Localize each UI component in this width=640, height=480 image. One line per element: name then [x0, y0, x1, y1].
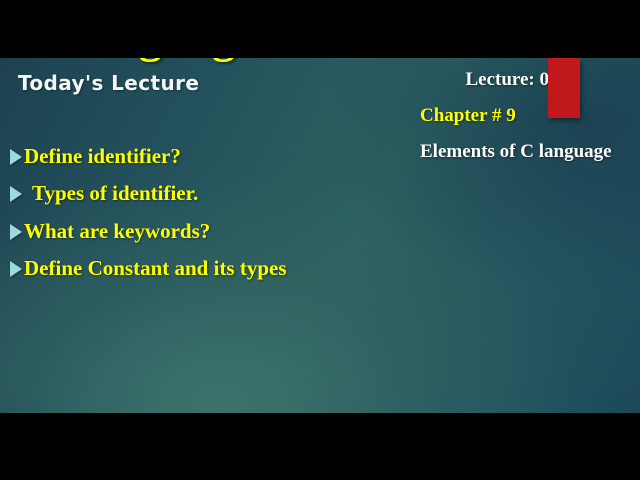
lecture-number: Lecture: 07: [420, 68, 620, 91]
bullet-list: Define identifier? Types of identifier. …: [10, 143, 430, 292]
list-item: Define identifier?: [10, 143, 430, 169]
triangle-right-bullet-icon: [10, 224, 22, 240]
chapter-title: Elements of C language: [420, 140, 620, 163]
bullet-text: Types of identifier.: [24, 180, 198, 206]
bullet-text: What are keywords?: [24, 218, 210, 244]
triangle-right-bullet-icon: [10, 261, 22, 277]
list-item: What are keywords?: [10, 218, 430, 244]
letterbox-bar-top: [0, 0, 640, 58]
triangle-right-bullet-icon: [10, 149, 22, 165]
list-item: Types of identifier.: [10, 180, 430, 206]
bullet-text: Define Constant and its types: [24, 255, 287, 281]
bullet-text: Define identifier?: [24, 143, 181, 169]
slide-subtitle: Today's Lecture: [18, 73, 256, 93]
chapter-number: Chapter # 9: [420, 104, 620, 127]
list-item: Define Constant and its types: [10, 255, 430, 281]
red-accent-rectangle: [548, 58, 580, 118]
triangle-right-bullet-icon: [10, 186, 22, 202]
letterbox-bar-bottom: [0, 413, 640, 480]
presentation-slide: C Language Today's Lecture Define identi…: [0, 0, 640, 480]
lecture-meta-block: Lecture: 07 Chapter # 9 Elements of C la…: [420, 68, 620, 164]
